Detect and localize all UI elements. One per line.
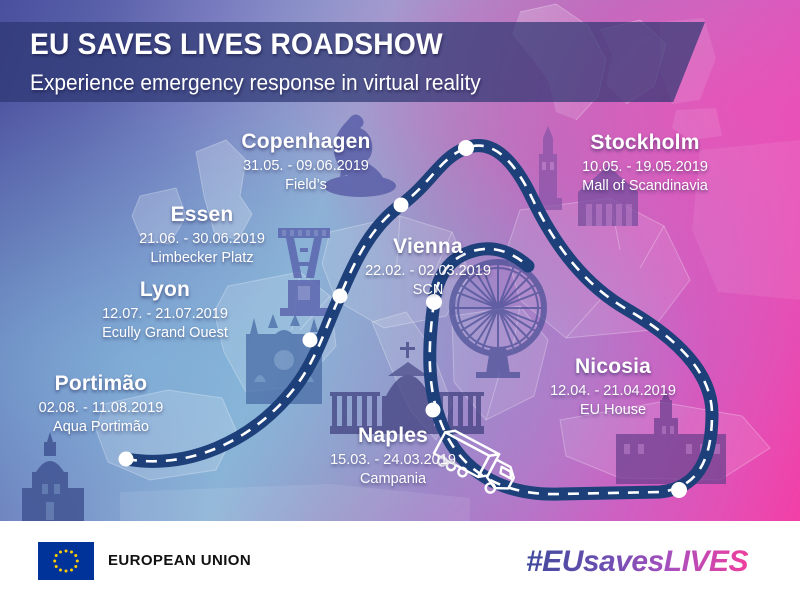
city-venue: Ecully Grand Ouest: [102, 325, 228, 342]
eu-flag-icon: [38, 542, 94, 580]
city-venue: EU House: [550, 402, 676, 419]
city-name: Stockholm: [582, 131, 708, 156]
city-dates: 21.06. - 30.06.2019: [139, 231, 265, 248]
city-name: Naples: [330, 424, 456, 449]
city-label-lyon: Lyon 12.07. - 21.07.2019 Ecully Grand Ou…: [102, 278, 228, 342]
city-dates: 31.05. - 09.06.2019: [241, 158, 370, 175]
city-label-stockholm: Stockholm 10.05. - 19.05.2019 Mall of Sc…: [582, 131, 708, 195]
city-venue: Limbecker Platz: [139, 250, 265, 267]
portimao-church-icon: [22, 432, 84, 521]
city-name: Vienna: [365, 235, 491, 260]
city-venue: Mall of Scandinavia: [582, 178, 708, 195]
city-label-naples: Naples 15.03. - 24.03.2019 Campania: [330, 424, 456, 488]
footer: EUROPEAN UNION #EUsavesLIVES: [0, 521, 800, 601]
city-dates: 22.02. - 02.03.2019: [365, 263, 491, 280]
stop-marker-essen-2[interactable]: [394, 198, 409, 213]
page-subtitle: Experience emergency response in virtual…: [30, 70, 481, 96]
city-venue: Campania: [330, 471, 456, 488]
europe-map: EU SAVES LIVES ROADSHOW Experience emerg…: [0, 0, 800, 521]
eu-label: EUROPEAN UNION: [108, 552, 251, 569]
city-venue: SCN: [365, 282, 491, 299]
city-name: Nicosia: [550, 355, 676, 380]
roadshow-poster: EU SAVES LIVES ROADSHOW Experience emerg…: [0, 0, 800, 601]
stop-marker-lyon[interactable]: [303, 333, 318, 348]
city-label-vienna: Vienna 22.02. - 02.03.2019 SCN: [365, 235, 491, 299]
city-venue: Field’s: [241, 177, 370, 194]
city-label-copenhagen: Copenhagen 31.05. - 09.06.2019 Field’s: [241, 130, 370, 194]
stop-marker-naples[interactable]: [426, 403, 441, 418]
stop-marker-essen[interactable]: [333, 289, 348, 304]
city-name: Essen: [139, 203, 265, 228]
city-label-portimao: Portimão 02.08. - 11.08.2019 Aqua Portim…: [39, 372, 164, 436]
city-label-nicosia: Nicosia 12.04. - 21.04.2019 EU House: [550, 355, 676, 419]
city-dates: 02.08. - 11.08.2019: [39, 400, 164, 417]
city-name: Portimão: [39, 372, 164, 397]
hashtag-text: #EUsavesLIVES: [526, 545, 748, 578]
city-dates: 10.05. - 19.05.2019: [582, 159, 708, 176]
city-name: Lyon: [102, 278, 228, 303]
page-title: EU SAVES LIVES ROADSHOW: [30, 28, 443, 62]
stop-marker-nicosia[interactable]: [671, 482, 687, 498]
city-label-essen: Essen 21.06. - 30.06.2019 Limbecker Plat…: [139, 203, 265, 267]
stop-marker-portimao[interactable]: [119, 452, 134, 467]
stop-marker-copenhagen[interactable]: [458, 140, 474, 156]
city-venue: Aqua Portimão: [39, 419, 164, 436]
hashtag-logo: #EUsavesLIVES: [526, 543, 774, 579]
city-dates: 15.03. - 24.03.2019: [330, 452, 456, 469]
city-dates: 12.04. - 21.04.2019: [550, 383, 676, 400]
city-dates: 12.07. - 21.07.2019: [102, 306, 228, 323]
city-name: Copenhagen: [241, 130, 370, 155]
